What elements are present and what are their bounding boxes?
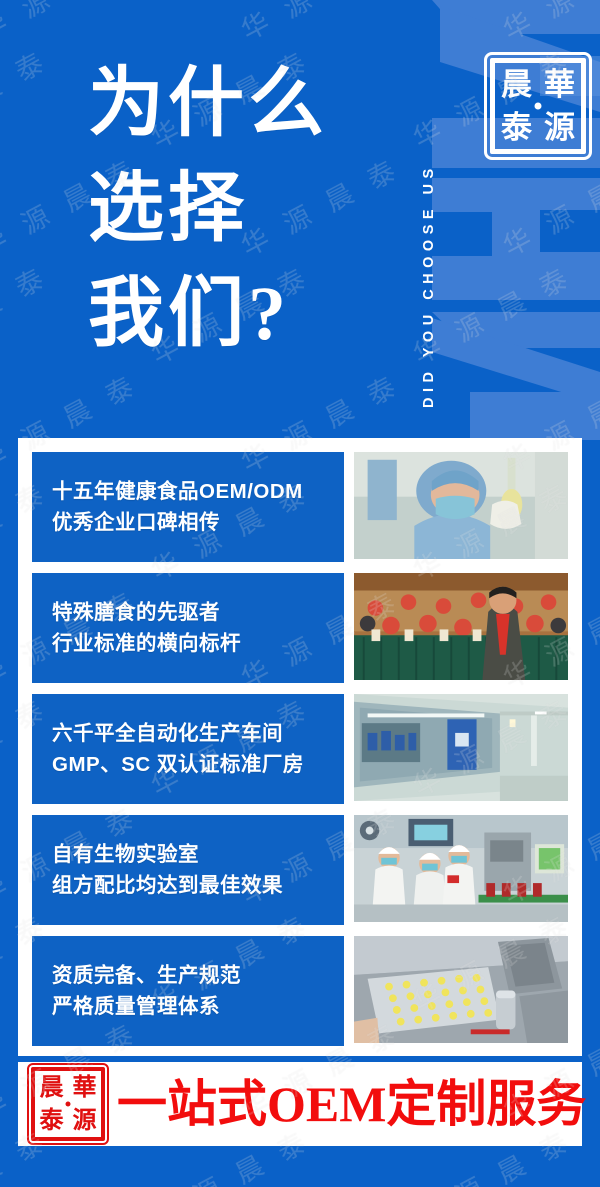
feature-line: 十五年健康食品OEM/ODM [52,476,336,507]
feature-line: 资质完备、生产规范 [52,960,336,991]
page-title: 为什么 选择 我们? [88,52,328,367]
feature-photo [354,936,568,1046]
features-panel: 十五年健康食品OEM/ODM 优秀企业口碑相传 [18,438,582,1056]
poster-root: 为什么 选择 我们? DID YOU CHOOSE US 晨 華 泰 源 十五年… [0,0,600,1187]
feature-line: 行业标准的横向标杆 [52,628,336,659]
feature-line: GMP、SC 双认证标准厂房 [52,749,336,780]
footer-brand-seal: 晨 華 泰 源 [31,1067,105,1141]
brand-seal-logo: 晨 華 泰 源 [490,58,586,154]
seal-char-1: 晨 [500,68,533,101]
seal-center-dot [535,103,542,110]
title-line-2: 选择 [88,157,328,262]
feature-card-text: 自有生物实验室 组方配比均达到最佳效果 [32,815,344,925]
feature-photo [354,573,568,683]
watermark-row: 华 源 晨 泰华 源 晨 泰华 源 晨 泰华 源 晨 泰华 源 晨 泰 [0,1158,600,1187]
footer-seal-char-1: 晨 [40,1076,64,1100]
feature-card: 特殊膳食的先驱者 行业标准的横向标杆 [32,573,568,683]
vertical-tagline: DID YOU CHOOSE US [421,18,447,408]
feature-card: 自有生物实验室 组方配比均达到最佳效果 [32,815,568,925]
seal-char-3: 泰 [500,111,533,144]
footer-seal-char-4: 源 [73,1109,97,1133]
feature-card: 资质完备、生产规范 严格质量管理体系 [32,936,568,1046]
feature-card: 六千平全自动化生产车间 GMP、SC 双认证标准厂房 [32,694,568,804]
feature-line: 严格质量管理体系 [52,991,336,1022]
footer-seal-center-dot [66,1102,71,1107]
hero-section: 为什么 选择 我们? DID YOU CHOOSE US 晨 華 泰 源 [0,0,600,440]
feature-card-text: 资质完备、生产规范 严格质量管理体系 [32,936,344,1046]
feature-card-text: 特殊膳食的先驱者 行业标准的横向标杆 [32,573,344,683]
feature-line: 六千平全自动化生产车间 [52,718,336,749]
footer-slogan-bar: 晨 華 泰 源 一站式OEM定制服务 [18,1062,582,1146]
feature-line: 优秀企业口碑相传 [52,507,336,538]
feature-photo [354,694,568,804]
feature-line: 特殊膳食的先驱者 [52,597,336,628]
feature-card-text: 十五年健康食品OEM/ODM 优秀企业口碑相传 [32,452,344,562]
footer-seal-char-3: 泰 [40,1109,64,1133]
feature-card: 十五年健康食品OEM/ODM 优秀企业口碑相传 [32,452,568,562]
title-line-1: 为什么 [88,52,328,157]
feature-photo [354,452,568,562]
seal-char-2: 華 [543,68,576,101]
feature-photo [354,815,568,925]
feature-card-text: 六千平全自动化生产车间 GMP、SC 双认证标准厂房 [32,694,344,804]
feature-line: 组方配比均达到最佳效果 [52,870,336,901]
title-line-3: 我们? [88,262,328,367]
seal-char-4: 源 [543,111,576,144]
footer-seal-char-2: 華 [73,1076,97,1100]
feature-line: 自有生物实验室 [52,839,336,870]
footer-slogan: 一站式OEM定制服务 [117,1079,586,1129]
